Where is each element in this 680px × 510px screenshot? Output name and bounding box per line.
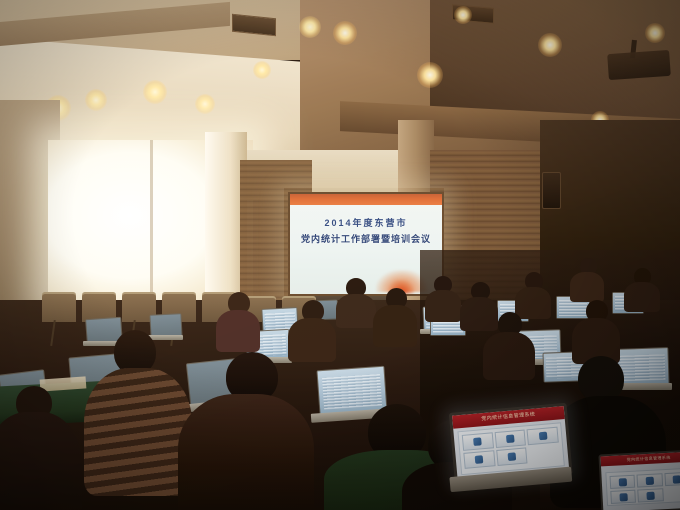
app-tile-2[interactable] xyxy=(637,473,663,487)
app-tile-3[interactable] xyxy=(527,427,559,446)
app-tile-icon xyxy=(538,432,547,441)
ceiling-downlight xyxy=(253,61,271,79)
app-tile-5[interactable] xyxy=(496,447,528,466)
app-tile-icon xyxy=(619,493,627,501)
app-tile-1[interactable] xyxy=(610,475,636,489)
ceiling-downlight xyxy=(299,16,321,38)
app-tile-icon xyxy=(673,475,680,483)
app-icon-grid xyxy=(606,469,680,507)
ceiling-downlight xyxy=(195,94,215,114)
conference-room-photo: 2014年度东营市 党内统计工作部署暨培训会议 xyxy=(0,0,680,510)
app-icon-grid xyxy=(459,423,564,472)
ceiling-projector xyxy=(607,50,671,80)
ceiling-downlight xyxy=(143,80,167,104)
ceiling-spotlight xyxy=(333,21,357,45)
ceiling-downlight xyxy=(85,89,107,111)
app-tile-5[interactable] xyxy=(638,488,664,502)
app-tile-icon xyxy=(506,434,515,443)
ceiling-spotlight xyxy=(538,33,562,57)
slide-header-bar xyxy=(290,194,442,205)
app-tile-icon xyxy=(475,455,484,464)
attendee-torso xyxy=(84,368,192,496)
chair-empty xyxy=(42,292,76,322)
app-tile-empty xyxy=(665,487,680,499)
app-window-body xyxy=(457,422,564,475)
ceiling-spotlight xyxy=(417,62,443,88)
laptop-foreground: 党内统计信息管理系统 xyxy=(449,403,567,490)
attendee-torso xyxy=(178,394,314,510)
app-tile-icon xyxy=(646,491,654,499)
app-tile-icon xyxy=(508,452,517,461)
app-tile-icon xyxy=(646,476,654,484)
app-title-banner: 党内统计信息管理系统 xyxy=(600,451,680,466)
app-tile-1[interactable] xyxy=(462,432,494,451)
ceiling-spotlight xyxy=(454,6,472,24)
app-tile-4[interactable] xyxy=(463,450,495,469)
window-mullion xyxy=(150,140,153,308)
ceiling-spotlight xyxy=(645,23,665,43)
app-tile-icon xyxy=(473,437,482,446)
app-window-body xyxy=(605,468,680,507)
slide-title-line1: 2014年度东营市 xyxy=(290,216,442,229)
app-tile-2[interactable] xyxy=(494,429,526,448)
slide-title-line2: 党内统计工作部署暨培训会议 xyxy=(290,232,442,245)
app-tile-3[interactable] xyxy=(664,472,680,486)
laptop-screen: 党内统计信息管理系统 xyxy=(600,451,680,510)
app-tile-icon xyxy=(618,478,626,486)
app-tile-4[interactable] xyxy=(610,490,636,504)
laptop-foreground-right: 党内统计信息管理系统 xyxy=(598,450,680,510)
wall-speaker xyxy=(542,172,561,209)
app-tile-empty xyxy=(528,445,560,462)
laptop-lid: 党内统计信息管理系统 xyxy=(598,449,680,510)
